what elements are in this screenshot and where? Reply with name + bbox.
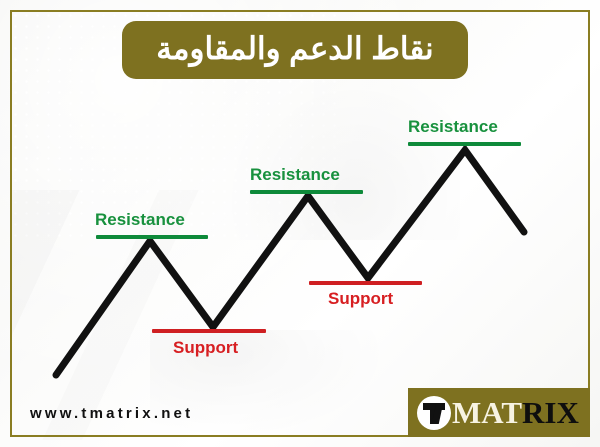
brand-wordmark: MATRIX (452, 397, 579, 428)
resistance-line-3 (408, 142, 521, 146)
resistance-line-1 (96, 235, 208, 239)
t-circle-icon (417, 396, 451, 430)
resistance-label-3: Resistance (408, 118, 498, 135)
brand-word-dark: RIX (522, 395, 579, 430)
support-line-1 (152, 329, 266, 333)
resistance-label-1: Resistance (95, 211, 185, 228)
support-label-2: Support (328, 290, 393, 307)
website-url[interactable]: www.tmatrix.net (30, 405, 193, 422)
brand-logo[interactable]: MATRIX (408, 388, 590, 437)
resistance-label-2: Resistance (250, 166, 340, 183)
support-line-2 (309, 281, 422, 285)
support-label-1: Support (173, 339, 238, 356)
infographic-canvas: نقاط الدعم والمقاومة Resistance Support … (0, 0, 600, 447)
price-zigzag-chart (0, 0, 600, 447)
resistance-line-2 (250, 190, 363, 194)
brand-word-light: MAT (452, 395, 522, 430)
